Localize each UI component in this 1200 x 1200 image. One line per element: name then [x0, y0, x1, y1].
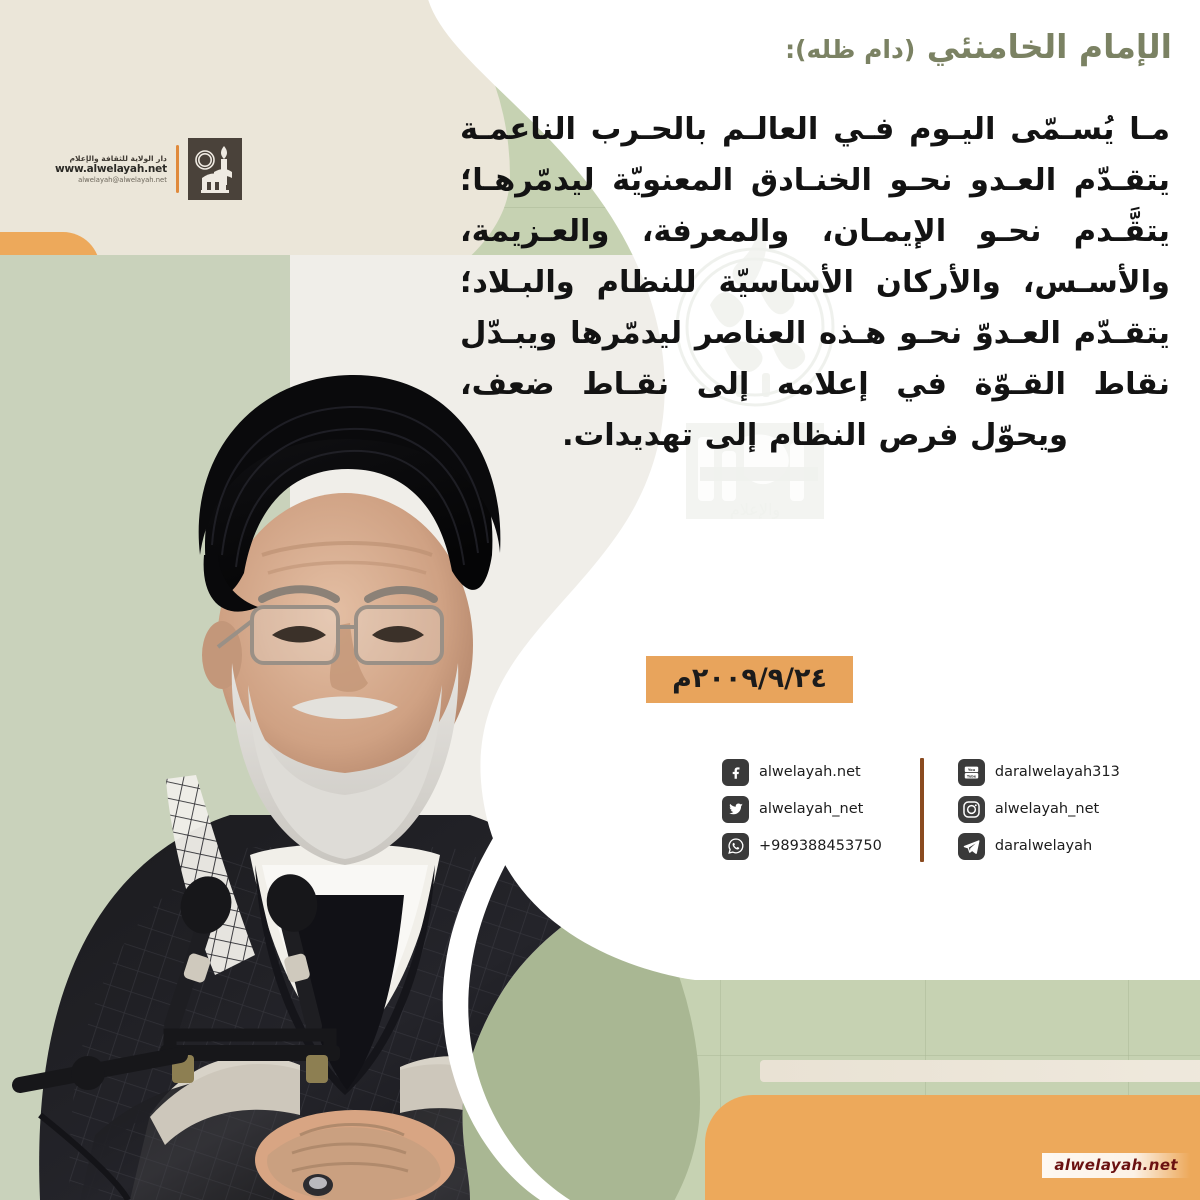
brand-org-name: دار الولاية للثقافة والإعلام [55, 154, 167, 163]
brand-divider [176, 145, 179, 193]
brand-email: alwelayah@alwelayah.net [55, 176, 167, 184]
twitter-icon [722, 796, 749, 823]
social-column-right: You Tube daralwelayah313 alwelayah_net [958, 758, 1120, 860]
site-watermark: alwelayah.net [1042, 1153, 1190, 1178]
brand-logo-block[interactable]: دار الولاية للثقافة والإعلام www.alwelay… [55, 138, 242, 200]
social-item-instagram[interactable]: alwelayah_net [958, 795, 1120, 823]
social-divider [920, 758, 924, 862]
social-item-telegram[interactable]: daralwelayah [958, 832, 1120, 860]
background-cream-bar [760, 1060, 1200, 1082]
social-item-whatsapp[interactable]: +989388453750 [722, 832, 882, 860]
background-orange-panel-bottom [705, 1095, 1200, 1200]
youtube-icon: You Tube [958, 759, 985, 786]
social-handle-youtube: daralwelayah313 [995, 764, 1120, 780]
social-handle-facebook: alwelayah.net [759, 764, 861, 780]
page-title: الإمام الخامنئي (دام ظله): [512, 27, 1172, 66]
social-item-twitter[interactable]: alwelayah_net [722, 795, 882, 823]
quote-text: مـا يُسـمّى اليـوم فـي العالـم بالحـرب ا… [460, 104, 1170, 461]
svg-text:You: You [967, 767, 976, 771]
date-badge: ٢٠٠٩/٩/٢٤م [646, 656, 853, 703]
svg-text:Tube: Tube [967, 774, 977, 778]
whatsapp-icon [722, 833, 749, 860]
quote-poster: والإعلام دار الولاية للثقافة والإعلام ww… [0, 0, 1200, 1200]
telegram-icon [958, 833, 985, 860]
social-handle-twitter: alwelayah_net [759, 801, 863, 817]
brand-website: www.alwelayah.net [55, 163, 167, 176]
brand-logo-text: دار الولاية للثقافة والإعلام www.alwelay… [55, 154, 167, 185]
social-handle-telegram: daralwelayah [995, 838, 1092, 854]
page-title-main: الإمام الخامنئي [927, 27, 1172, 66]
social-column-left: alwelayah.net alwelayah_net +98938845375… [722, 758, 882, 860]
dar-alwelayah-lamp-icon [188, 138, 242, 200]
page-title-honorific: (دام ظله): [785, 35, 915, 64]
social-handle-whatsapp: +989388453750 [759, 838, 882, 854]
social-handle-instagram: alwelayah_net [995, 801, 1099, 817]
social-item-facebook[interactable]: alwelayah.net [722, 758, 882, 786]
instagram-icon [958, 796, 985, 823]
facebook-icon [722, 759, 749, 786]
social-links: alwelayah.net alwelayah_net +98938845375… [722, 758, 1120, 862]
quote-text-block: مـا يُسـمّى اليـوم فـي العالـم بالحـرب ا… [460, 104, 1170, 461]
social-item-youtube[interactable]: You Tube daralwelayah313 [958, 758, 1120, 786]
